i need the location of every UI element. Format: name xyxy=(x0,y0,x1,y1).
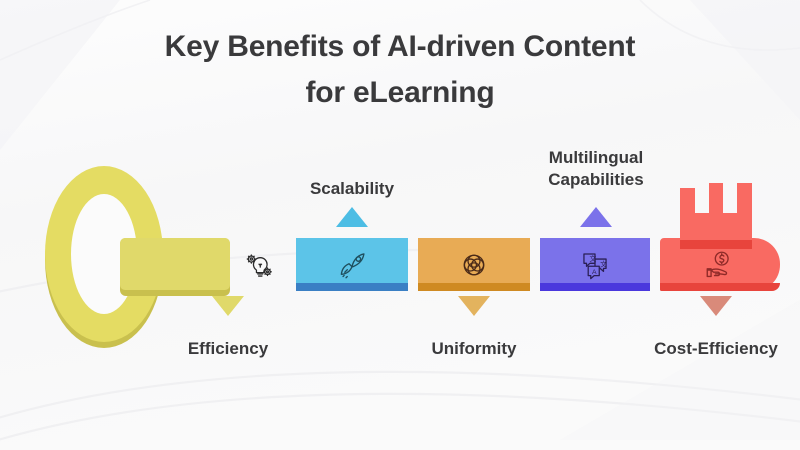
svg-text:文: 文 xyxy=(600,259,607,268)
svg-text:文: 文 xyxy=(589,254,596,263)
label-multilingual: Multilingual Capabilities xyxy=(521,147,671,191)
translate-bubbles-icon: 文 文 A xyxy=(578,248,612,282)
page-title: Key Benefits of AI-driven Content for eL… xyxy=(0,24,800,116)
svg-text:A: A xyxy=(592,268,597,275)
pointer-uniformity xyxy=(458,296,490,316)
label-uniformity: Uniformity xyxy=(409,338,539,360)
label-scalability: Scalability xyxy=(287,178,417,200)
key-shaft xyxy=(120,238,230,296)
pointer-multilingual xyxy=(580,207,612,227)
rocket-icon xyxy=(335,248,369,282)
title-line-2: for eLearning xyxy=(0,70,800,116)
pointer-efficiency xyxy=(212,296,244,316)
overlapping-circles-icon xyxy=(457,248,491,282)
pointer-cost-efficiency xyxy=(700,296,732,316)
label-efficiency: Efficiency xyxy=(163,338,293,360)
key-teeth xyxy=(680,183,752,249)
label-multilingual-line-2: Capabilities xyxy=(521,169,671,191)
hand-coin-icon xyxy=(703,248,737,282)
label-cost-efficiency: Cost-Efficiency xyxy=(641,338,791,360)
pointer-scalability xyxy=(336,207,368,227)
label-multilingual-line-1: Multilingual xyxy=(521,147,671,169)
title-line-1: Key Benefits of AI-driven Content xyxy=(0,24,800,70)
lightbulb-gears-icon xyxy=(242,248,276,282)
